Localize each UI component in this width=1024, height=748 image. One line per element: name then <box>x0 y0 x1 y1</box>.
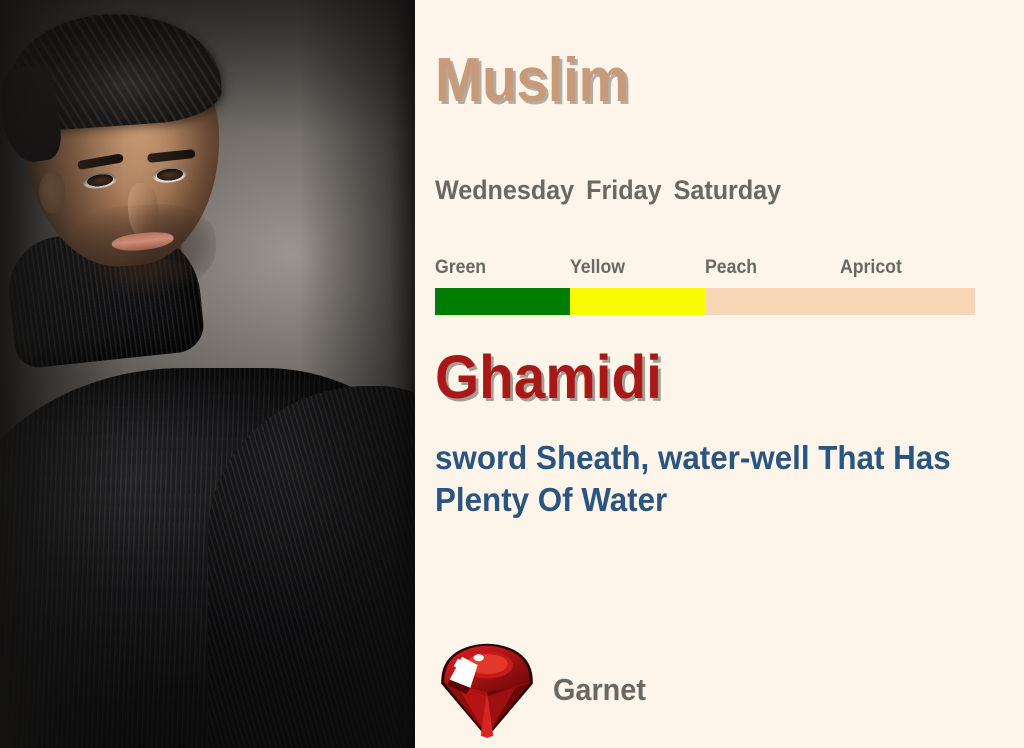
lucky-color-label: Peach <box>705 258 831 279</box>
color-swatch <box>570 288 705 315</box>
lucky-day-item: Saturday <box>674 175 781 206</box>
color-swatch <box>840 288 975 315</box>
lucky-colors-block: Green Yellow Peach Apricot <box>435 258 975 315</box>
photo-vignette <box>0 0 415 748</box>
lucky-stone-row: Garnet <box>435 638 653 742</box>
religion-title: Muslim <box>435 50 629 112</box>
lucky-color-bar <box>435 288 975 315</box>
color-swatch <box>435 288 570 315</box>
lucky-color-labels: Green Yellow Peach Apricot <box>435 258 975 279</box>
info-panel: Muslim Wednesday Friday Saturday Green Y… <box>415 0 1024 748</box>
lucky-stone-label: Garnet <box>553 672 646 708</box>
lucky-color-label: Yellow <box>570 258 696 279</box>
portrait-photo <box>0 0 415 748</box>
name-info-card: Muslim Wednesday Friday Saturday Green Y… <box>0 0 1024 748</box>
name-title: Ghamidi <box>435 347 662 408</box>
lucky-color-label: Green <box>435 258 561 279</box>
name-meaning: sword Sheath, water-well That Has Plenty… <box>435 437 953 521</box>
color-swatch <box>705 288 840 315</box>
lucky-day-item: Friday <box>586 175 661 206</box>
lucky-days-row: Wednesday Friday Saturday <box>435 175 956 206</box>
lucky-day-item: Wednesday <box>435 175 574 206</box>
lucky-color-label: Apricot <box>840 258 966 279</box>
gem-icon <box>435 638 539 742</box>
